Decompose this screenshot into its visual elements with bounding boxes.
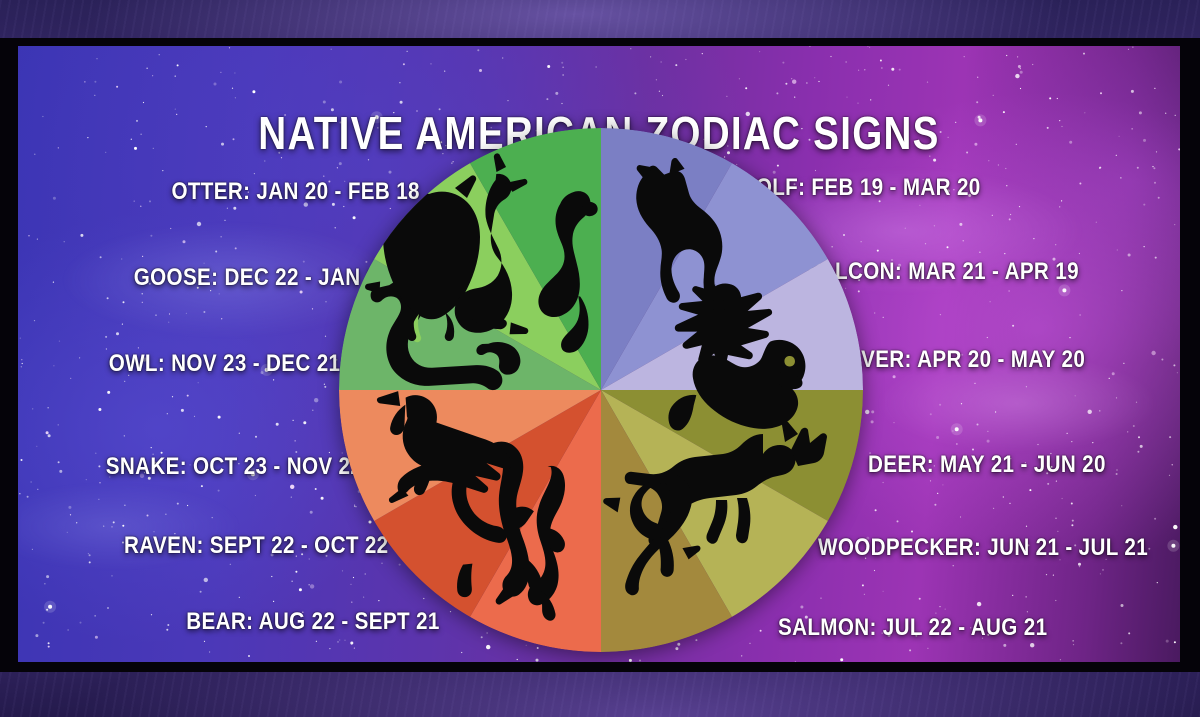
starfield-panel: NATIVE AMERICAN ZODIAC SIGNS OTTER: JAN … <box>18 46 1180 662</box>
zodiac-wheel-disc[interactable] <box>339 128 863 652</box>
label-snake: SNAKE: OCT 23 - NOV 22 <box>106 453 362 481</box>
label-goose: GOOSE: DEC 22 - JAN 19 <box>134 264 390 292</box>
label-falcon: FALCON: MAR 21 - APR 19 <box>808 258 1079 286</box>
label-otter: OTTER: JAN 20 - FEB 18 <box>172 178 420 206</box>
label-salmon: SALMON: JUL 22 - AUG 21 <box>778 614 1047 642</box>
label-owl: OWL: NOV 23 - DEC 21 <box>108 350 340 378</box>
label-raven: RAVEN: SEPT 22 - OCT 22 <box>124 532 388 560</box>
wheel-svg[interactable] <box>339 128 863 652</box>
label-bear: BEAR: AUG 22 - SEPT 21 <box>187 608 440 636</box>
label-woodpecker: WOODPECKER: JUN 21 - JUL 21 <box>818 534 1148 562</box>
label-deer: DEER: MAY 21 - JUN 20 <box>868 451 1106 479</box>
